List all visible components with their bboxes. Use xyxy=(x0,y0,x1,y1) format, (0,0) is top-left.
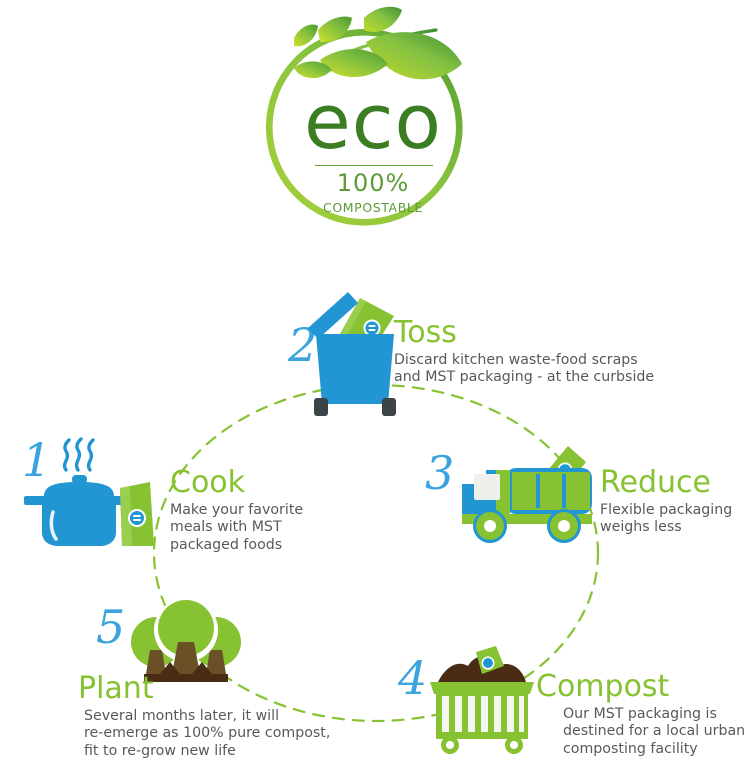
step-number-4: 4 xyxy=(398,655,427,701)
step-desc-toss: Discard kitchen waste-food scraps and MS… xyxy=(394,352,654,387)
garbage-truck-icon xyxy=(452,440,604,550)
step-title-plant: Plant xyxy=(78,674,154,704)
step-title-compost: Compost xyxy=(536,672,669,702)
step-desc-cook: Make your favorite meals with MST packag… xyxy=(170,502,303,554)
step-title-cook: Cook xyxy=(170,468,245,498)
step-title-toss: Toss xyxy=(394,318,457,348)
mst-package-cook xyxy=(120,482,154,546)
step-title-reduce: Reduce xyxy=(600,468,711,498)
compost-cart-icon xyxy=(424,644,540,756)
step-desc-reduce: Flexible packaging weighs less xyxy=(600,502,732,537)
cooking-pot-icon xyxy=(20,436,172,552)
step-desc-compost: Our MST packaging is destined for a loca… xyxy=(563,706,745,758)
steam-icon xyxy=(65,439,93,470)
step-number-3: 3 xyxy=(425,450,454,496)
step-number-5: 5 xyxy=(96,604,125,650)
step-desc-plant: Several months later, it will re-emerge … xyxy=(84,708,330,760)
infographic-canvas: eco 100% COMPOSTABLE 2 xyxy=(0,0,750,779)
